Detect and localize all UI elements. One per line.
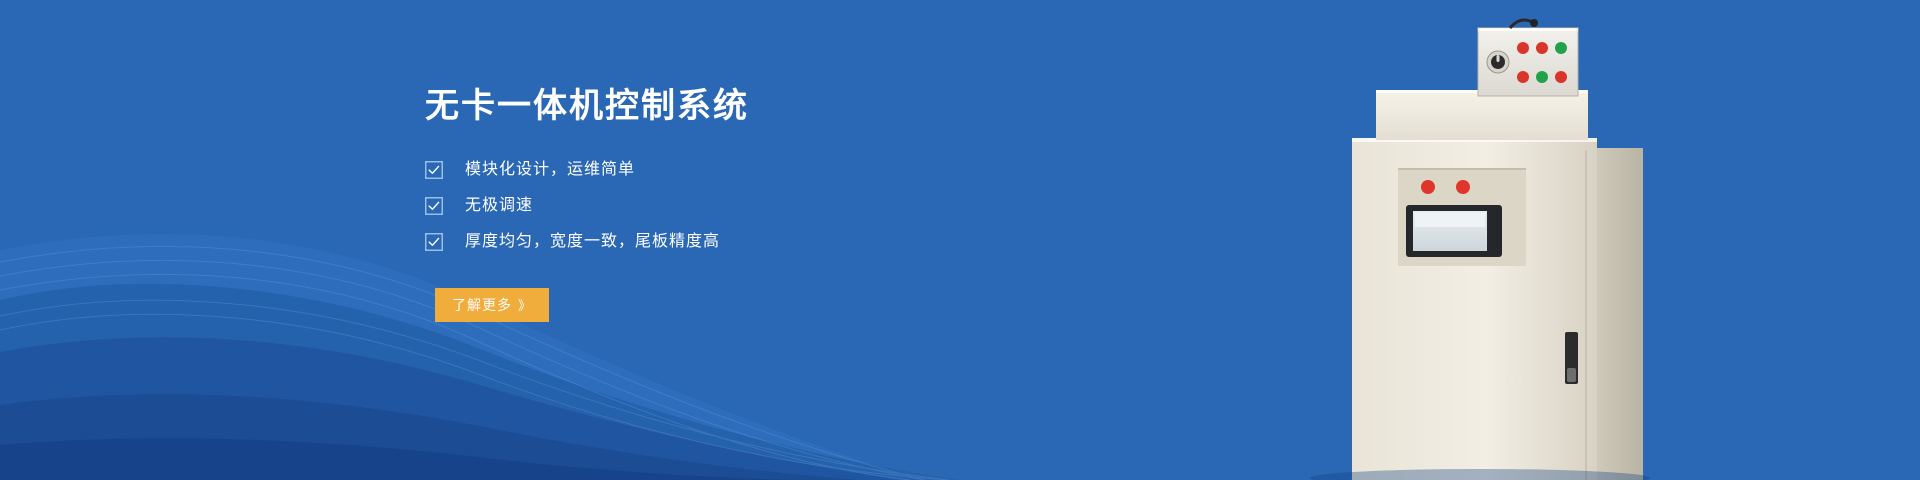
feature-label: 厚度均匀，宽度一致，尾板精度高 [465,234,720,250]
learn-more-button[interactable]: 了解更多 》 [435,288,549,322]
panel-light-red-left [1421,180,1435,194]
checkbox-check-icon [425,197,443,215]
feature-item-1: 模块化设计，运维简单 [425,161,985,179]
learn-more-label: 了解更多 [452,295,512,315]
indicator-red-4 [1555,71,1567,83]
indicator-green-2 [1536,71,1548,83]
feature-item-2: 无极调速 [425,197,985,215]
hero-content: 无卡一体机控制系统 模块化设计，运维简单 无极调速 [425,86,985,322]
checkbox-check-icon [425,233,443,251]
machine-photo [1180,0,1920,480]
page-title: 无卡一体机控制系统 [425,86,985,127]
indicator-green-1 [1555,42,1567,54]
feature-label: 模块化设计，运维简单 [465,162,635,178]
chevron-right-icon: 》 [518,295,532,314]
checkbox-check-icon [425,161,443,179]
indicator-red-2 [1536,42,1548,54]
indicator-red-1 [1517,42,1529,54]
upper-control-box [1478,19,1578,96]
feature-label: 无极调速 [465,198,533,214]
feature-list: 模块化设计，运维简单 无极调速 厚度均匀，宽度一致，尾板精度高 [425,161,985,251]
panel-light-red-right [1456,180,1470,194]
feature-item-3: 厚度均匀，宽度一致，尾板精度高 [425,233,985,251]
hero-banner: 无卡一体机控制系统 模块化设计，运维简单 无极调速 [0,0,1920,480]
hmi-touchscreen [1406,205,1502,257]
indicator-red-3 [1517,71,1529,83]
